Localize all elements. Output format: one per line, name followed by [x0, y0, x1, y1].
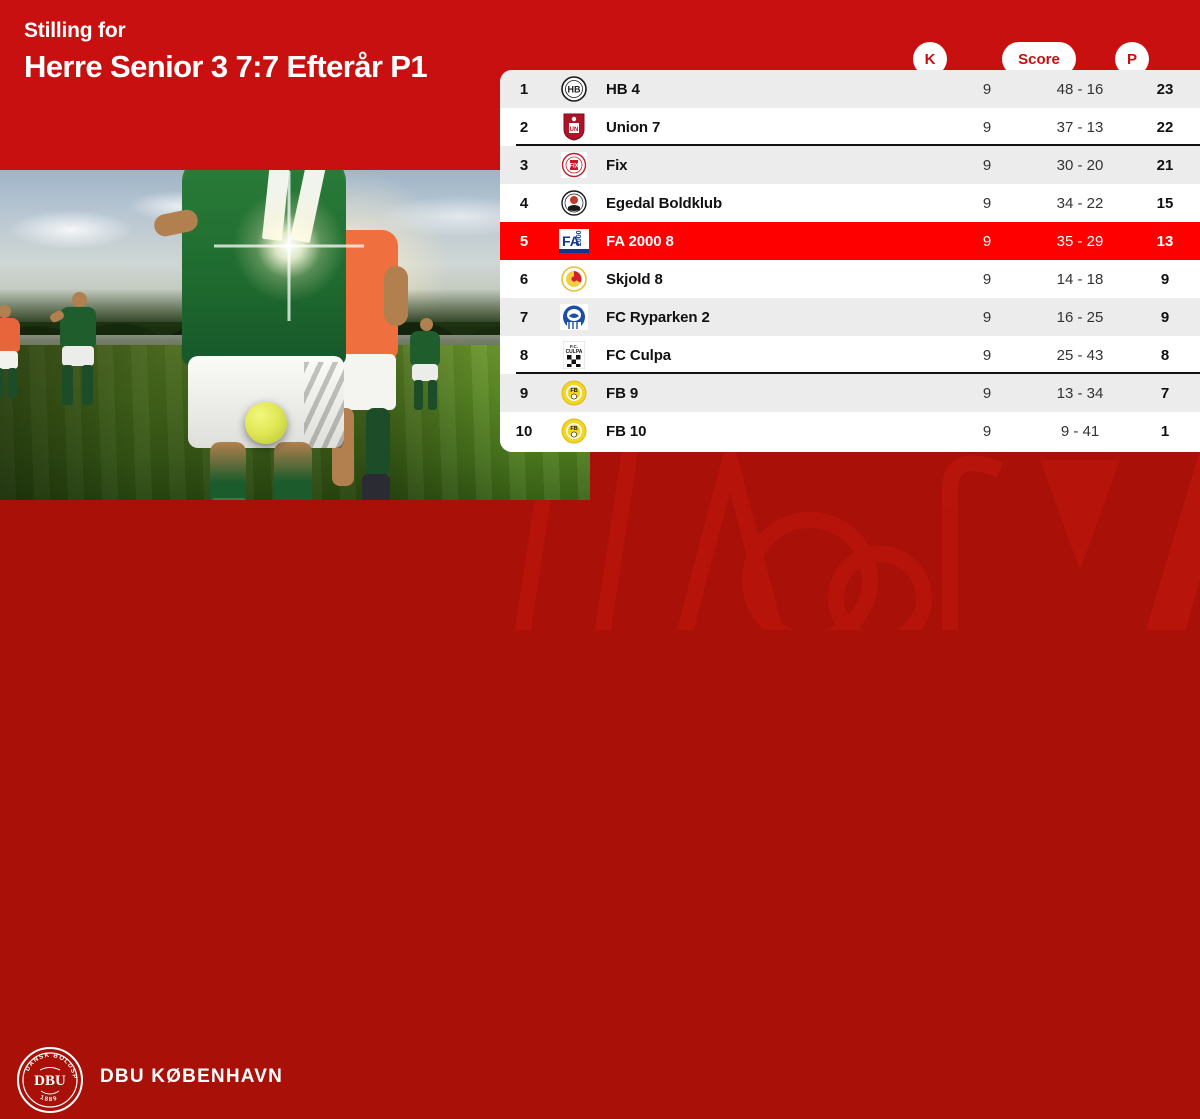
table-row[interactable]: 7 FC Ryparken 2 9 16 - 25 9	[500, 298, 1200, 336]
table-row[interactable]: 4 Egedal Boldklub 9 34 - 22 15	[500, 184, 1200, 222]
row-matches: 9	[944, 233, 1030, 250]
ryparken-logo-icon	[548, 304, 600, 330]
row-score: 35 - 29	[1030, 233, 1130, 250]
row-matches: 9	[944, 385, 1030, 402]
egedal-logo-icon	[548, 190, 600, 216]
table-row[interactable]: 8 F.C.CULPA FC Culpa 9 25 - 43 8	[500, 336, 1200, 374]
row-position: 4	[500, 195, 548, 212]
svg-text:FB: FB	[570, 388, 577, 394]
row-points: 23	[1130, 81, 1200, 98]
row-position: 2	[500, 119, 548, 136]
row-position: 10	[500, 423, 548, 440]
row-position: 3	[500, 157, 548, 174]
table-row[interactable]: 2 UN Union 7 9 37 - 13 22	[500, 108, 1200, 146]
row-points: 9	[1130, 309, 1200, 326]
svg-text:HB: HB	[568, 85, 581, 95]
row-score: 48 - 16	[1030, 81, 1130, 98]
row-matches: 9	[944, 271, 1030, 288]
row-club-name: HB 4	[600, 81, 944, 98]
row-club-name: Skjold 8	[600, 271, 944, 288]
svg-text:UN: UN	[570, 127, 579, 133]
fa2000-logo-icon: FA2000	[548, 229, 600, 253]
culpa-logo-icon: F.C.CULPA	[548, 341, 600, 369]
row-matches: 9	[944, 81, 1030, 98]
row-matches: 9	[944, 309, 1030, 326]
photo-football	[245, 402, 287, 444]
svg-text:DBU: DBU	[34, 1073, 66, 1089]
svg-text:FIX: FIX	[569, 164, 578, 170]
row-score: 30 - 20	[1030, 157, 1130, 174]
row-points: 21	[1130, 157, 1200, 174]
row-club-name: FA 2000 8	[600, 233, 944, 250]
fix-logo-icon: FIX	[548, 152, 600, 178]
standings-table: 1 HB HB 4 9 48 - 16 23 2 UN Union 7 9 37…	[500, 70, 1200, 452]
table-row[interactable]: 10 FB FB 10 9 9 - 41 1	[500, 412, 1200, 450]
svg-text:1889: 1889	[39, 1095, 59, 1103]
photo-sun-glare	[229, 186, 349, 306]
row-matches: 9	[944, 195, 1030, 212]
hb-logo-icon: HB	[548, 76, 600, 102]
row-matches: 9	[944, 119, 1030, 136]
row-score: 16 - 25	[1030, 309, 1130, 326]
row-position: 9	[500, 385, 548, 402]
table-row[interactable]: 6 Skjold 8 9 14 - 18 9	[500, 260, 1200, 298]
row-score: 13 - 34	[1030, 385, 1130, 402]
row-club-name: Fix	[600, 157, 944, 174]
row-position: 6	[500, 271, 548, 288]
row-matches: 9	[944, 347, 1030, 364]
row-matches: 9	[944, 423, 1030, 440]
row-matches: 9	[944, 157, 1030, 174]
organisation-name: DBU KØBENHAVN	[100, 1066, 283, 1088]
row-score: 9 - 41	[1030, 423, 1130, 440]
row-club-name: FC Ryparken 2	[600, 309, 944, 326]
svg-text:FB: FB	[570, 426, 577, 432]
table-row[interactable]: 3 FIX Fix 9 30 - 20 21	[500, 146, 1200, 184]
union-logo-icon: UN	[548, 113, 600, 141]
skjold-logo-icon	[548, 266, 600, 292]
row-club-name: FC Culpa	[600, 347, 944, 364]
row-points: 15	[1130, 195, 1200, 212]
row-position: 5	[500, 233, 548, 250]
header-eyebrow: Stilling for	[24, 18, 494, 43]
row-position: 8	[500, 347, 548, 364]
row-position: 1	[500, 81, 548, 98]
table-row[interactable]: 9 FB FB 9 9 13 - 34 7	[500, 374, 1200, 412]
row-points: 13	[1130, 233, 1200, 250]
row-points: 22	[1130, 119, 1200, 136]
svg-text:2000: 2000	[576, 230, 583, 246]
table-row[interactable]: 1 HB HB 4 9 48 - 16 23	[500, 70, 1200, 108]
row-points: 7	[1130, 385, 1200, 402]
table-row-highlighted[interactable]: 5 FA2000 FA 2000 8 9 35 - 29 13	[500, 222, 1200, 260]
fb-logo-icon: FB	[548, 418, 600, 444]
fb-logo-icon: FB	[548, 380, 600, 406]
row-club-name: Egedal Boldklub	[600, 195, 944, 212]
row-score: 14 - 18	[1030, 271, 1130, 288]
row-club-name: FB 9	[600, 385, 944, 402]
row-club-name: Union 7	[600, 119, 944, 136]
row-position: 7	[500, 309, 548, 326]
svg-text:CULPA: CULPA	[566, 349, 583, 355]
row-points: 1	[1130, 423, 1200, 440]
row-score: 34 - 22	[1030, 195, 1130, 212]
page-title: Herre Senior 3 7:7 Efterår P1	[24, 49, 494, 86]
row-score: 25 - 43	[1030, 347, 1130, 364]
row-points: 8	[1130, 347, 1200, 364]
page-header: Stilling for Herre Senior 3 7:7 Efterår …	[24, 18, 494, 86]
row-club-name: FB 10	[600, 423, 944, 440]
page-footer: DANSK BOLDSPIL UNION 1889 DBU DBU KØBENH…	[0, 500, 1200, 630]
dbu-logo-icon: DANSK BOLDSPIL UNION 1889 DBU	[16, 1046, 84, 1114]
row-points: 9	[1130, 271, 1200, 288]
row-score: 37 - 13	[1030, 119, 1130, 136]
